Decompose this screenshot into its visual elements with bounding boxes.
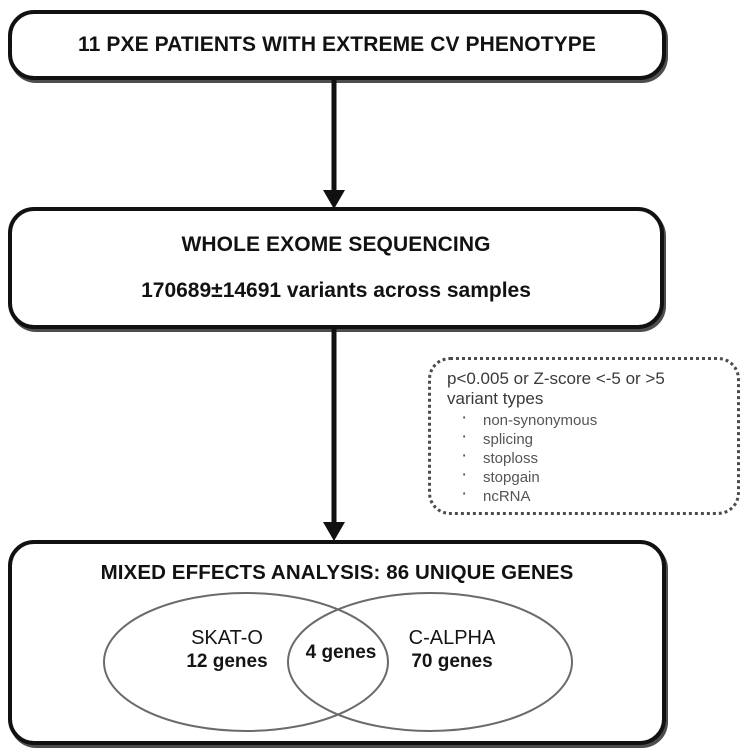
node-wes-subtitle: 170689±14691 variants across samples [141, 279, 531, 303]
criteria-heading: variant types [447, 389, 723, 409]
criteria-item: stoploss [461, 449, 723, 468]
node-wes-title: WHOLE EXOME SEQUENCING [181, 233, 490, 257]
filter-criteria-box: p<0.005 or Z-score <-5 or >5 variant typ… [428, 357, 740, 515]
flowchart-canvas: 11 PXE PATIENTS WITH EXTREME CV PHENOTYP… [0, 0, 746, 755]
arrow-patients-to-wes [304, 78, 364, 210]
criteria-item: stopgain [461, 468, 723, 487]
node-mixed-effects-title: MIXED EFFECTS ANALYSIS: 86 UNIQUE GENES [101, 561, 574, 585]
criteria-item: ncRNA [461, 487, 723, 506]
criteria-item: non-synonymous [461, 411, 723, 430]
venn-diagram: SKAT-O 12 genes 4 genes C-ALPHA 70 genes [96, 588, 580, 736]
venn-right-group: C-ALPHA 70 genes [362, 626, 542, 674]
arrow-wes-to-mixed [304, 327, 364, 543]
criteria-variant-type-list: non-synonymous splicing stoploss stopgai… [447, 411, 723, 506]
node-whole-exome-sequencing: WHOLE EXOME SEQUENCING 170689±14691 vari… [8, 207, 664, 329]
node-pxe-patients-title: 11 PXE PATIENTS WITH EXTREME CV PHENOTYP… [78, 33, 596, 57]
venn-right-count: 70 genes [362, 650, 542, 674]
node-pxe-patients: 11 PXE PATIENTS WITH EXTREME CV PHENOTYP… [8, 10, 666, 80]
venn-right-name: C-ALPHA [362, 626, 542, 650]
criteria-item: splicing [461, 430, 723, 449]
criteria-threshold: p<0.005 or Z-score <-5 or >5 [447, 369, 723, 389]
